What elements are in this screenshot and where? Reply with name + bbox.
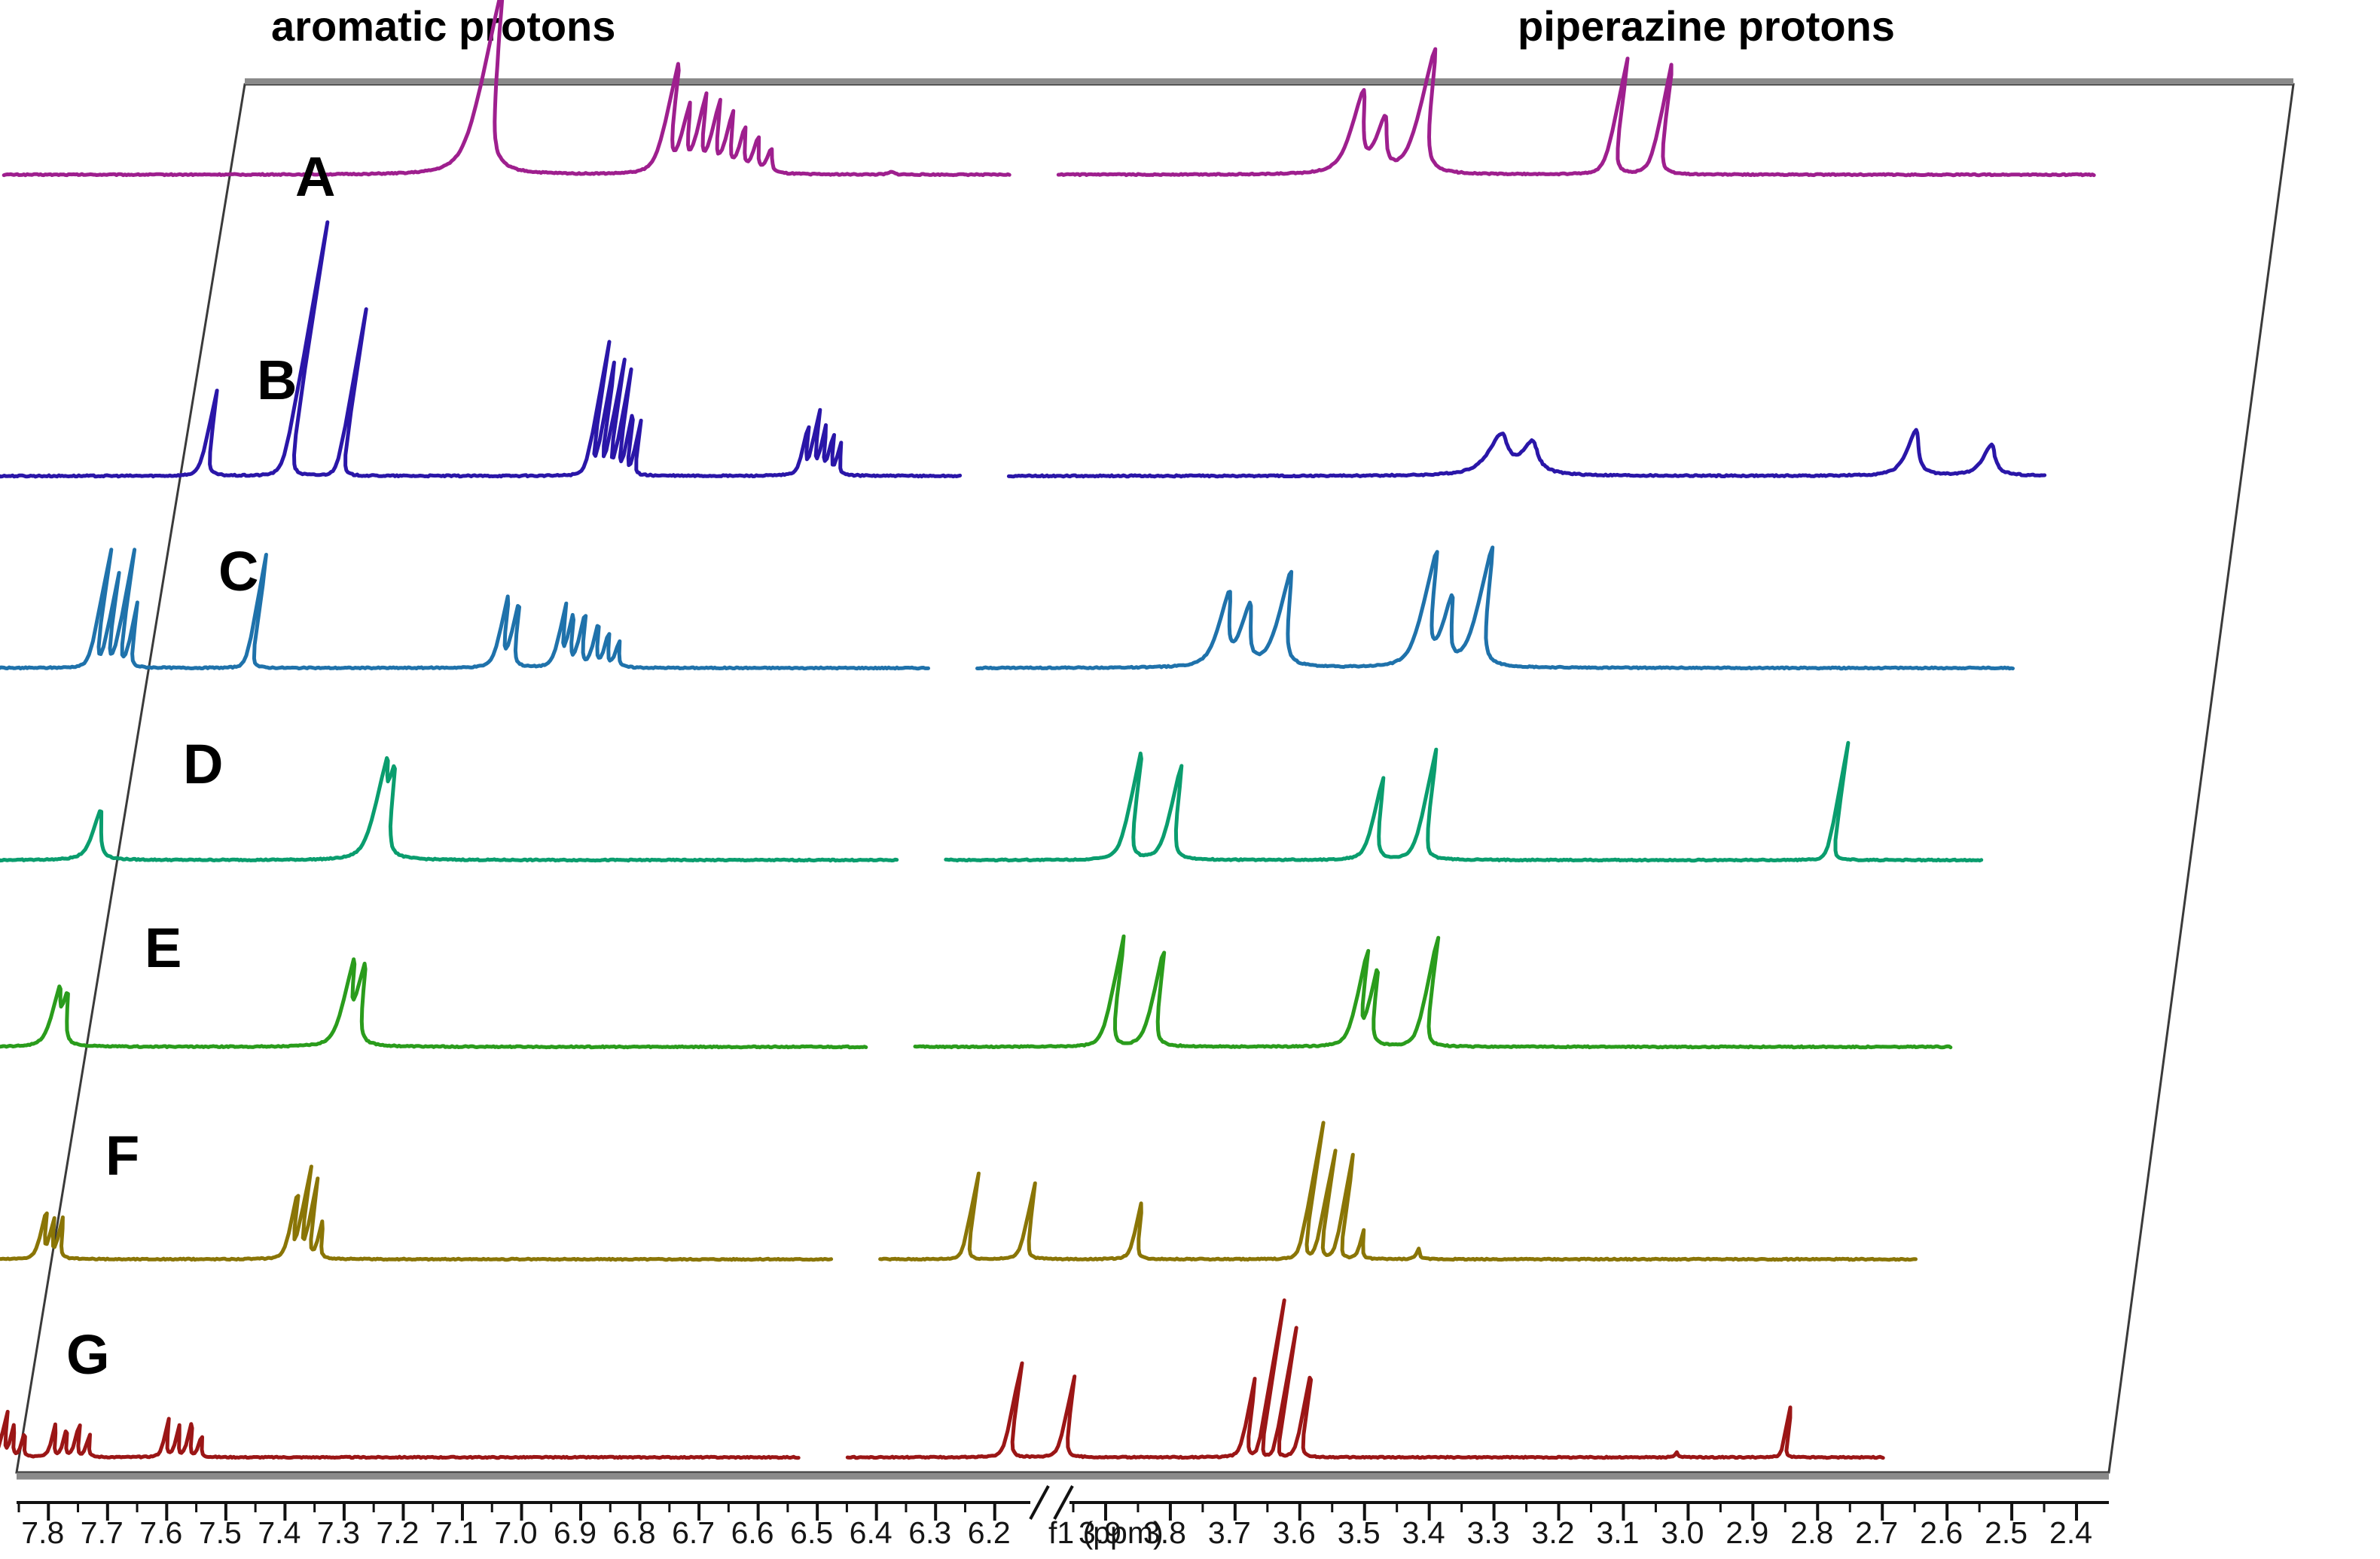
plot-frame [17, 81, 2293, 1476]
tick-label-3.2: 3.2 [1532, 1515, 1575, 1551]
nmr-stack-plot-figure: aromatic protons piperazine protons ABCD… [0, 0, 2380, 1559]
axis-title: f1 (ppm) [1048, 1515, 1164, 1551]
tick-label-7.0: 7.0 [495, 1515, 538, 1551]
tick-label-2.6: 2.6 [1920, 1515, 1963, 1551]
trace-b-piperazine [1008, 430, 2044, 477]
trace-g-piperazine [847, 1301, 1883, 1458]
trace-c-aromatic [0, 550, 929, 669]
trace-label-f: F [105, 1128, 139, 1184]
tick-label-7.2: 7.2 [376, 1515, 419, 1551]
trace-label-e: E [145, 920, 182, 976]
trace-a-aromatic [4, 0, 1009, 175]
trace-a-piperazine [1058, 49, 2094, 175]
trace-label-a: A [295, 149, 335, 205]
tick-label-7.3: 7.3 [317, 1515, 360, 1551]
tick-label-3.5: 3.5 [1338, 1515, 1381, 1551]
tick-label-6.3: 6.3 [908, 1515, 951, 1551]
tick-label-2.7: 2.7 [1855, 1515, 1898, 1551]
trace-c-piperazine [978, 548, 2013, 669]
tick-label-3.7: 3.7 [1208, 1515, 1251, 1551]
tick-label-7.4: 7.4 [258, 1515, 301, 1551]
tick-label-6.8: 6.8 [613, 1515, 656, 1551]
trace-e-aromatic [0, 960, 866, 1048]
tick-label-3.1: 3.1 [1596, 1515, 1639, 1551]
trace-d-piperazine [946, 743, 1982, 860]
trace-label-g: G [66, 1327, 110, 1383]
tick-label-3.3: 3.3 [1467, 1515, 1510, 1551]
tick-label-3.6: 3.6 [1273, 1515, 1316, 1551]
tick-label-7.6: 7.6 [139, 1515, 182, 1551]
trace-label-d: D [183, 737, 223, 792]
tick-label-6.9: 6.9 [554, 1515, 597, 1551]
trace-e-piperazine [915, 936, 1951, 1048]
tick-label-2.4: 2.4 [2049, 1515, 2092, 1551]
tick-label-3.4: 3.4 [1402, 1515, 1445, 1551]
axis-break-mark [1030, 1486, 1048, 1519]
tick-label-6.7: 6.7 [672, 1515, 715, 1551]
tick-label-7.1: 7.1 [435, 1515, 478, 1551]
trace-label-b: B [257, 352, 297, 408]
spectra-traces [0, 0, 2094, 1458]
spectra-canvas [0, 0, 2380, 1559]
tick-label-6.5: 6.5 [790, 1515, 833, 1551]
trace-label-c: C [218, 544, 258, 599]
tick-label-6.2: 6.2 [968, 1515, 1011, 1551]
trace-b-aromatic [0, 222, 960, 477]
tick-label-2.5: 2.5 [1985, 1515, 2028, 1551]
trace-f-piperazine [880, 1123, 1916, 1260]
tick-label-7.8: 7.8 [21, 1515, 64, 1551]
tick-label-7.7: 7.7 [81, 1515, 124, 1551]
trace-g-aromatic [0, 1411, 798, 1457]
tick-label-6.4: 6.4 [850, 1515, 892, 1551]
tick-label-7.5: 7.5 [199, 1515, 242, 1551]
tick-label-6.6: 6.6 [731, 1515, 774, 1551]
tick-label-3.0: 3.0 [1661, 1515, 1704, 1551]
tick-label-2.9: 2.9 [1725, 1515, 1768, 1551]
trace-d-aromatic [0, 758, 897, 861]
tick-label-2.8: 2.8 [1790, 1515, 1833, 1551]
